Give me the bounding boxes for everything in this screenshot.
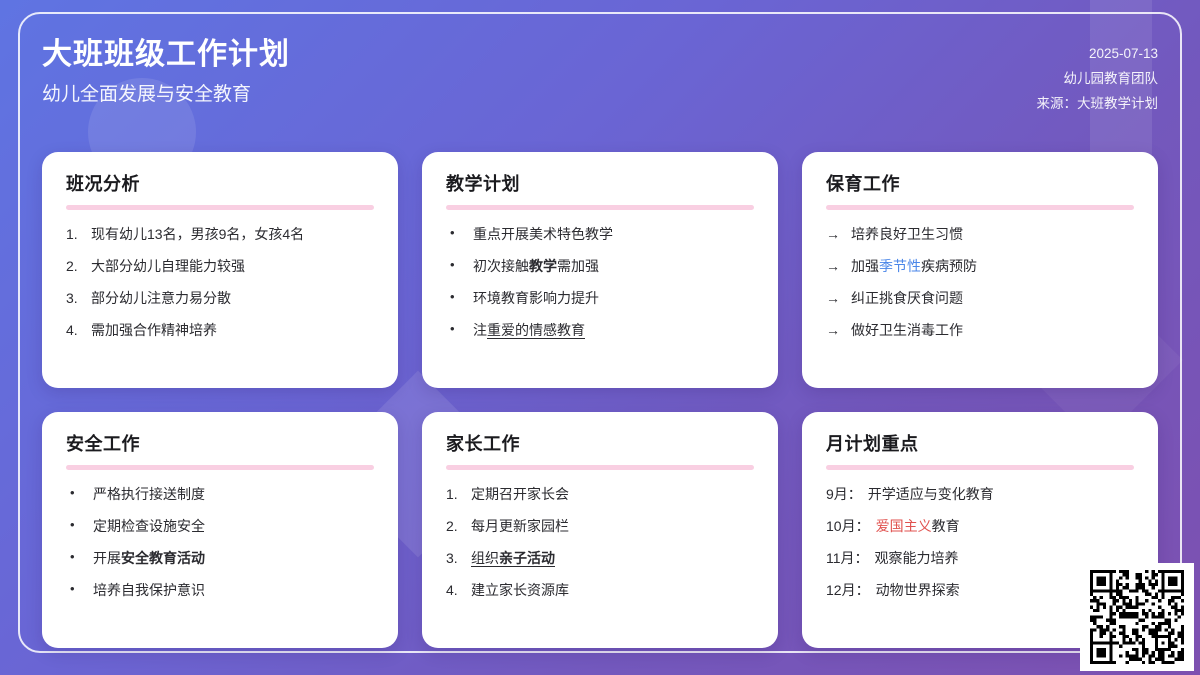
list-item-text: 培养良好卫生习惯 bbox=[851, 224, 963, 244]
list-item-text: 需加强合作精神培养 bbox=[91, 320, 217, 340]
list-item-text: 严格执行接送制度 bbox=[93, 484, 205, 504]
list-item: •培养自我保护意识 bbox=[66, 580, 374, 600]
list-item-text: 做好卫生消毒工作 bbox=[851, 320, 963, 340]
list-item-marker: • bbox=[446, 288, 466, 307]
card: 教学计划•重点开展美术特色教学•初次接触教学需加强•环境教育影响力提升•注重爱的… bbox=[422, 152, 778, 388]
card-title-rule bbox=[826, 465, 1134, 470]
list-item-text: 注重爱的情感教育 bbox=[473, 320, 585, 340]
list-item: •开展安全教育活动 bbox=[66, 548, 374, 568]
list-item: →做好卫生消毒工作 bbox=[826, 320, 1134, 340]
list-item: 3.部分幼儿注意力易分散 bbox=[66, 288, 374, 308]
list-item-marker: → bbox=[826, 256, 844, 276]
list-item-text: 建立家长资源库 bbox=[471, 580, 569, 600]
list-item-marker: 4. bbox=[66, 320, 84, 340]
list-item-marker: 12月： bbox=[826, 580, 870, 600]
list-item: 2.大部分幼儿自理能力较强 bbox=[66, 256, 374, 276]
list-item-marker: • bbox=[66, 548, 86, 567]
list-item: 4.需加强合作精神培养 bbox=[66, 320, 374, 340]
list-item-marker: → bbox=[826, 224, 844, 244]
list-item: •环境教育影响力提升 bbox=[446, 288, 754, 308]
card-item-list: •严格执行接送制度•定期检查设施安全•开展安全教育活动•培养自我保护意识 bbox=[66, 484, 374, 601]
list-item: •严格执行接送制度 bbox=[66, 484, 374, 504]
list-item-marker: • bbox=[66, 580, 86, 599]
page-subtitle: 幼儿全面发展与安全教育 bbox=[42, 83, 1158, 108]
list-item-text: 现有幼儿13名，男孩9名，女孩4名 bbox=[91, 224, 304, 244]
card-title: 月计划重点 bbox=[826, 434, 1134, 456]
list-item-marker: • bbox=[66, 484, 86, 503]
list-item-text: 开展安全教育活动 bbox=[93, 548, 205, 568]
list-item: →培养良好卫生习惯 bbox=[826, 224, 1134, 244]
list-item: →纠正挑食厌食问题 bbox=[826, 288, 1134, 308]
list-item: 9月：开学适应与变化教育 bbox=[826, 484, 1134, 504]
card-title: 安全工作 bbox=[66, 434, 374, 456]
list-item-marker: • bbox=[446, 320, 466, 339]
list-item: 4.建立家长资源库 bbox=[446, 580, 754, 600]
list-item-text: 定期召开家长会 bbox=[471, 484, 569, 504]
list-item-marker: 3. bbox=[446, 548, 464, 568]
meta-author: 幼儿园教育团队 bbox=[1037, 67, 1159, 92]
card-title-rule bbox=[446, 465, 754, 470]
card-title: 保育工作 bbox=[826, 174, 1134, 196]
list-item-text: 加强季节性疾病预防 bbox=[851, 256, 977, 276]
list-item-text: 爱国主义教育 bbox=[876, 516, 960, 536]
list-item-text: 观察能力培养 bbox=[875, 548, 959, 568]
card-title: 教学计划 bbox=[446, 174, 754, 196]
list-item: 2.每月更新家园栏 bbox=[446, 516, 754, 536]
list-item-marker: • bbox=[446, 224, 466, 243]
meta-source: 来源：大班教学计划 bbox=[1037, 92, 1159, 117]
qr-code-image bbox=[1090, 570, 1184, 664]
card: 安全工作•严格执行接送制度•定期检查设施安全•开展安全教育活动•培养自我保护意识 bbox=[42, 412, 398, 648]
list-item-marker: 2. bbox=[446, 516, 464, 536]
list-item-marker: 2. bbox=[66, 256, 84, 276]
list-item-text: 大部分幼儿自理能力较强 bbox=[91, 256, 245, 276]
list-item-text: 每月更新家园栏 bbox=[471, 516, 569, 536]
list-item-marker: 3. bbox=[66, 288, 84, 308]
meta-date: 2025-07-13 bbox=[1037, 42, 1159, 67]
card-title-rule bbox=[66, 205, 374, 210]
list-item-text: 纠正挑食厌食问题 bbox=[851, 288, 963, 308]
card-item-list: →培养良好卫生习惯→加强季节性疾病预防→纠正挑食厌食问题→做好卫生消毒工作 bbox=[826, 224, 1134, 341]
list-item: 3.组织亲子活动 bbox=[446, 548, 754, 568]
list-item-marker: 1. bbox=[446, 484, 464, 504]
card-item-list: 1.定期召开家长会2.每月更新家园栏3.组织亲子活动4.建立家长资源库 bbox=[446, 484, 754, 601]
list-item-marker: 11月： bbox=[826, 548, 869, 568]
qr-code[interactable] bbox=[1080, 563, 1194, 671]
list-item: •定期检查设施安全 bbox=[66, 516, 374, 536]
list-item-text: 开学适应与变化教育 bbox=[868, 484, 994, 504]
card: 保育工作→培养良好卫生习惯→加强季节性疾病预防→纠正挑食厌食问题→做好卫生消毒工… bbox=[802, 152, 1158, 388]
header-meta: 2025-07-13 幼儿园教育团队 来源：大班教学计划 bbox=[1037, 42, 1159, 117]
list-item-text: 组织亲子活动 bbox=[471, 548, 555, 568]
list-item-text: 动物世界探索 bbox=[876, 580, 960, 600]
list-item: •重点开展美术特色教学 bbox=[446, 224, 754, 244]
page-title: 大班班级工作计划 bbox=[42, 36, 1158, 74]
card: 班况分析1.现有幼儿13名，男孩9名，女孩4名2.大部分幼儿自理能力较强3.部分… bbox=[42, 152, 398, 388]
list-item-text: 部分幼儿注意力易分散 bbox=[91, 288, 231, 308]
slide-header: 大班班级工作计划 幼儿全面发展与安全教育 2025-07-13 幼儿园教育团队 … bbox=[42, 36, 1158, 136]
list-item-marker: • bbox=[66, 516, 86, 535]
list-item-text: 培养自我保护意识 bbox=[93, 580, 205, 600]
card: 家长工作1.定期召开家长会2.每月更新家园栏3.组织亲子活动4.建立家长资源库 bbox=[422, 412, 778, 648]
card-item-list: •重点开展美术特色教学•初次接触教学需加强•环境教育影响力提升•注重爱的情感教育 bbox=[446, 224, 754, 341]
list-item-marker: 9月： bbox=[826, 484, 862, 504]
list-item-text: 环境教育影响力提升 bbox=[473, 288, 599, 308]
card-title-rule bbox=[66, 465, 374, 470]
list-item-marker: → bbox=[826, 320, 844, 340]
card-title: 班况分析 bbox=[66, 174, 374, 196]
list-item: •初次接触教学需加强 bbox=[446, 256, 754, 276]
card-item-list: 1.现有幼儿13名，男孩9名，女孩4名2.大部分幼儿自理能力较强3.部分幼儿注意… bbox=[66, 224, 374, 341]
list-item: 10月：爱国主义教育 bbox=[826, 516, 1134, 536]
list-item: 1.定期召开家长会 bbox=[446, 484, 754, 504]
list-item-marker: 1. bbox=[66, 224, 84, 244]
list-item-marker: → bbox=[826, 288, 844, 308]
list-item-marker: 10月： bbox=[826, 516, 870, 536]
card-title: 家长工作 bbox=[446, 434, 754, 456]
list-item-marker: 4. bbox=[446, 580, 464, 600]
list-item-text: 定期检查设施安全 bbox=[93, 516, 205, 536]
list-item: •注重爱的情感教育 bbox=[446, 320, 754, 340]
list-item-marker: • bbox=[446, 256, 466, 275]
card-title-rule bbox=[826, 205, 1134, 210]
card-title-rule bbox=[446, 205, 754, 210]
card-grid: 班况分析1.现有幼儿13名，男孩9名，女孩4名2.大部分幼儿自理能力较强3.部分… bbox=[42, 152, 1158, 648]
list-item: 1.现有幼儿13名，男孩9名，女孩4名 bbox=[66, 224, 374, 244]
list-item-text: 初次接触教学需加强 bbox=[473, 256, 599, 276]
list-item-text: 重点开展美术特色教学 bbox=[473, 224, 613, 244]
list-item: →加强季节性疾病预防 bbox=[826, 256, 1134, 276]
